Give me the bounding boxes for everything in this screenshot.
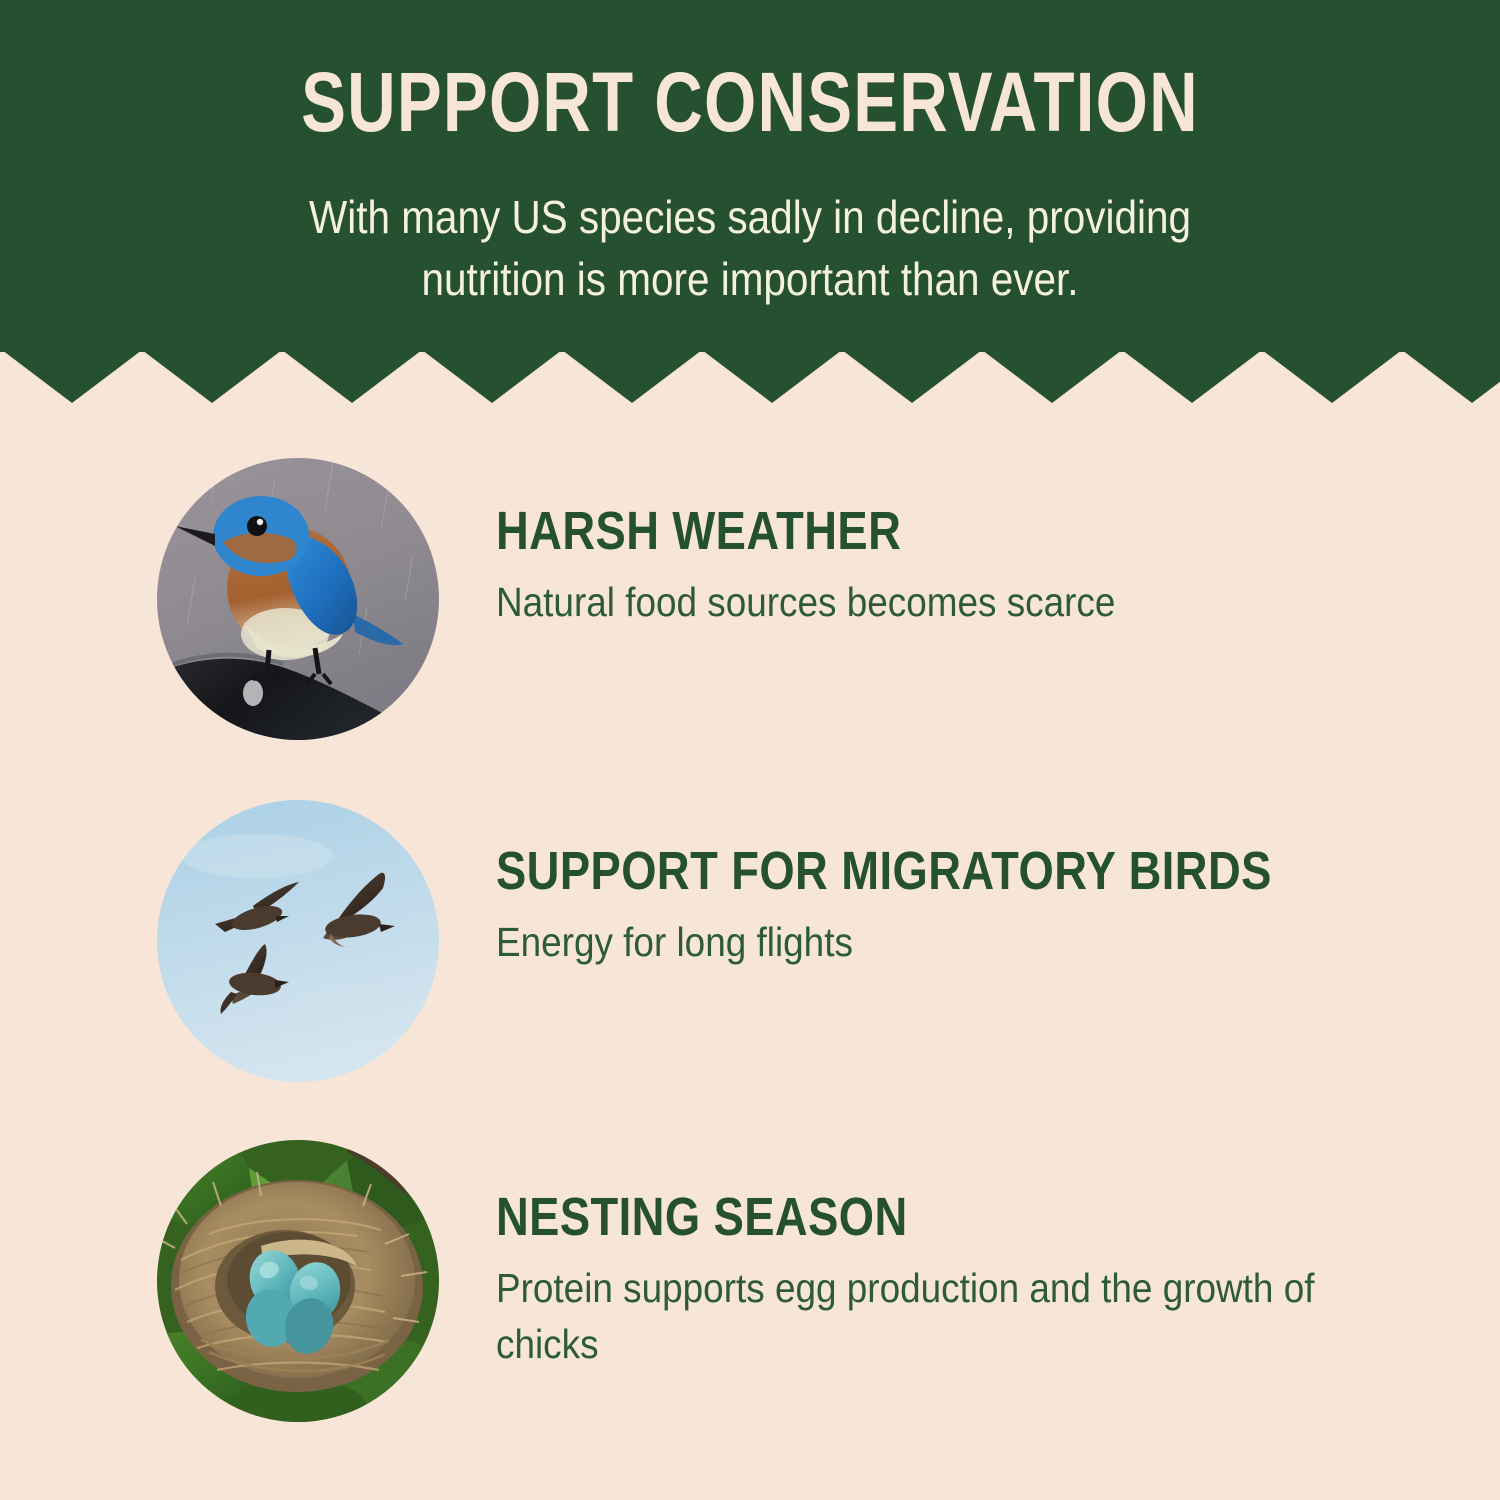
feature-row: NESTING SEASON Protein supports egg prod… (0, 1140, 1500, 1430)
feature-heading: HARSH WEATHER (496, 502, 1235, 560)
feature-description: Energy for long flights (496, 914, 1360, 970)
flying-birds-sky-photo (157, 800, 439, 1082)
feature-row: HARSH WEATHER Natural food sources becom… (0, 458, 1500, 748)
feature-description: Protein supports egg production and the … (496, 1260, 1360, 1372)
feature-text-block: NESTING SEASON Protein supports egg prod… (496, 1188, 1376, 1372)
feature-description: Natural food sources becomes scarce (496, 574, 1360, 630)
page-title: SUPPORT CONSERVATION (150, 56, 1350, 148)
nest-with-eggs-photo (157, 1140, 439, 1422)
feature-row: SUPPORT FOR MIGRATORY BIRDS Energy for l… (0, 800, 1500, 1090)
feature-heading: NESTING SEASON (496, 1188, 1235, 1246)
zigzag-divider-icon (0, 348, 1500, 408)
page-subtitle: With many US species sadly in decline, p… (292, 186, 1207, 310)
header-band: SUPPORT CONSERVATION With many US specie… (0, 0, 1500, 352)
feature-text-block: SUPPORT FOR MIGRATORY BIRDS Energy for l… (496, 842, 1376, 970)
feature-heading: SUPPORT FOR MIGRATORY BIRDS (496, 842, 1235, 900)
conservation-infographic: HARSH WEATHER Natural food sources becom… (0, 0, 1500, 1500)
bluebird-on-branch-photo (157, 458, 439, 740)
feature-text-block: HARSH WEATHER Natural food sources becom… (496, 502, 1376, 630)
